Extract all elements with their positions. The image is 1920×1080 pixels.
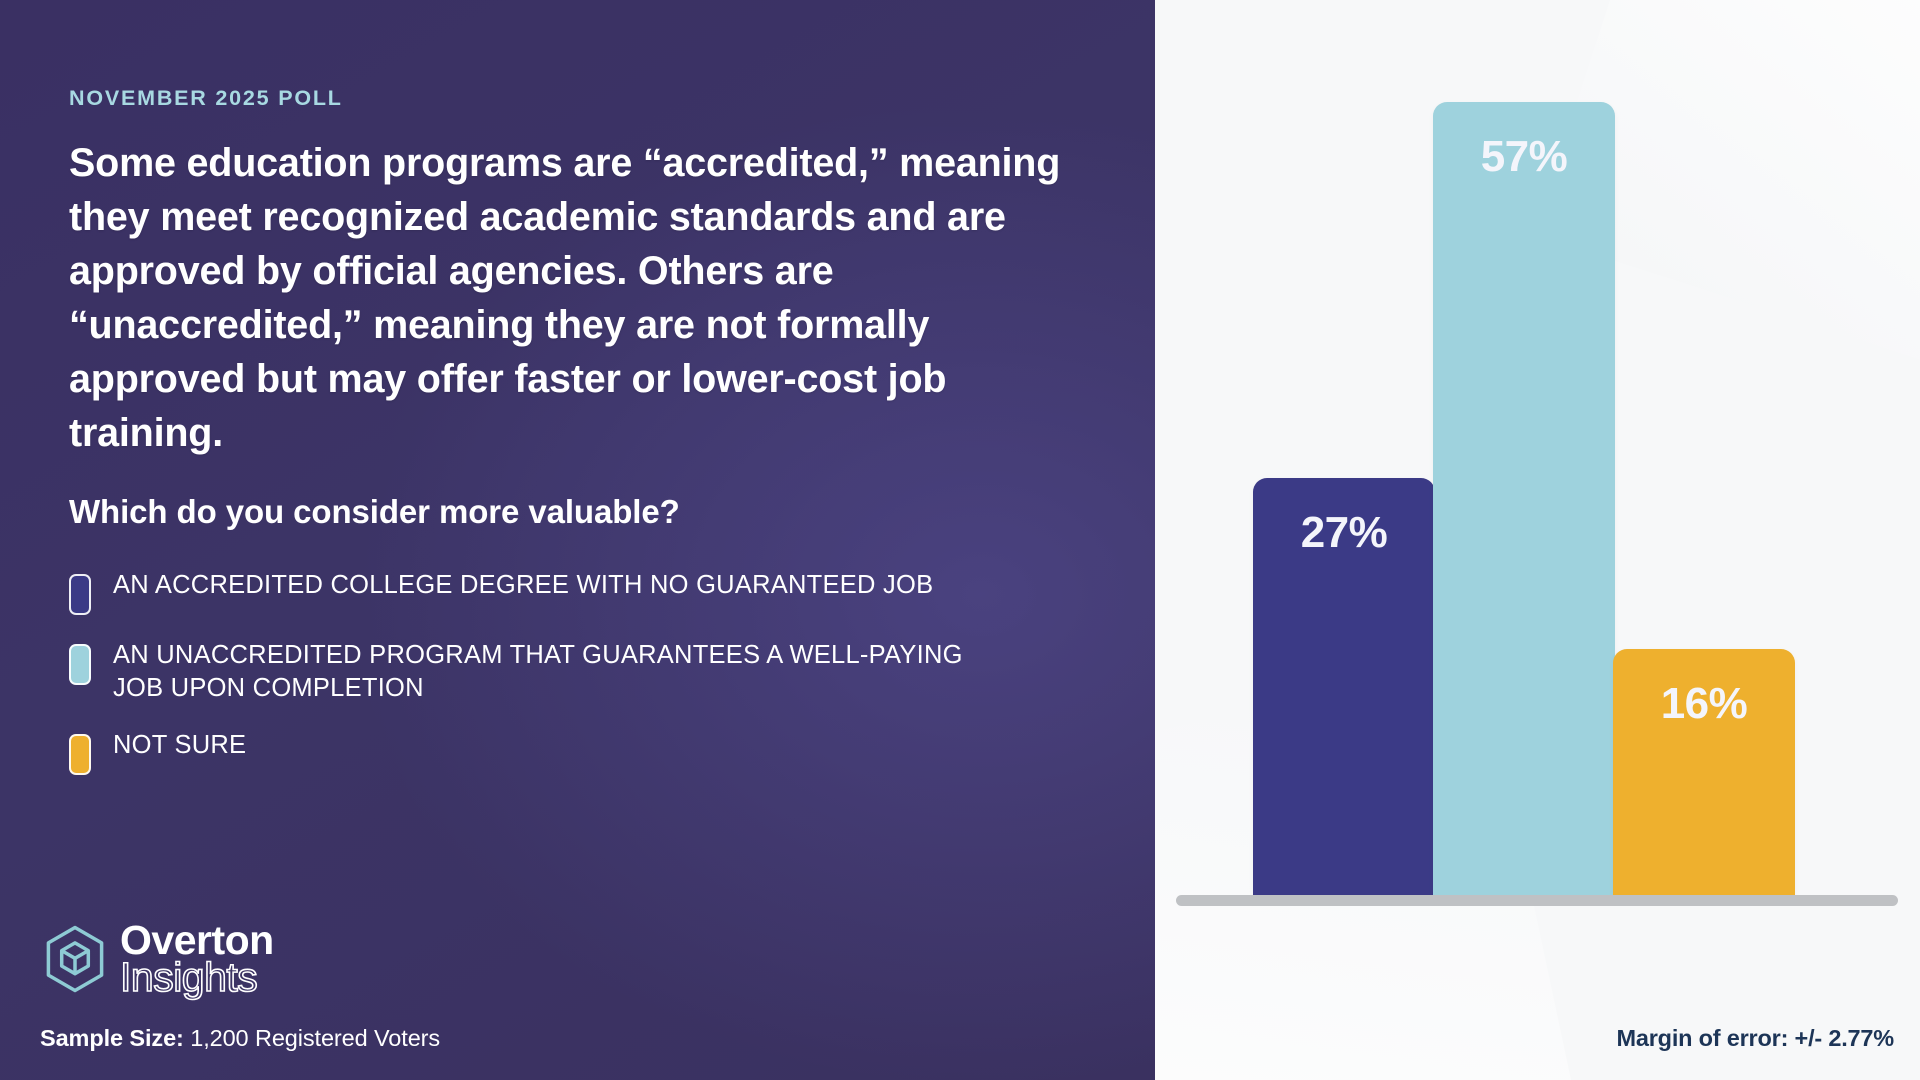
chart-baseline: [1176, 895, 1898, 906]
sample-size-label: Sample Size:: [40, 1025, 184, 1051]
legend-item-accredited-degree: AN ACCREDITED COLLEGE DEGREE WITH NO GUA…: [69, 569, 1155, 615]
left-content-panel: NOVEMBER 2025 POLL Some education progra…: [0, 0, 1155, 1080]
legend-label-unaccredited-program: AN UNACCREDITED PROGRAM THAT GUARANTEES …: [113, 639, 1013, 705]
margin-of-error-text: Margin of error: +/- 2.77%: [1616, 1025, 1894, 1052]
legend-label-not-sure: NOT SURE: [113, 729, 246, 762]
brand-wordmark: Overton Insights: [120, 920, 274, 998]
poll-subquestion-text: Which do you consider more valuable?: [69, 491, 1155, 533]
bar-value-accredited-degree: 27%: [1301, 508, 1388, 897]
brand-name-secondary: Insights: [120, 957, 274, 998]
legend: AN ACCREDITED COLLEGE DEGREE WITH NO GUA…: [69, 569, 1155, 775]
chart-panel: 27% 57% 16% Margin of error: +/- 2.77%: [1155, 0, 1920, 1080]
brand-logo: Overton Insights: [40, 920, 274, 998]
hexagon-logo-icon: [40, 924, 110, 994]
bar-chart: 27% 57% 16%: [1155, 0, 1920, 1080]
bar-unaccredited-program: 57%: [1433, 102, 1615, 897]
poll-infographic: NOVEMBER 2025 POLL Some education progra…: [0, 0, 1920, 1080]
legend-swatch-accredited-degree: [69, 574, 91, 615]
legend-swatch-not-sure: [69, 734, 91, 775]
bar-value-not-sure: 16%: [1661, 679, 1748, 897]
poll-date-eyebrow: NOVEMBER 2025 POLL: [69, 86, 1155, 111]
bar-value-unaccredited-program: 57%: [1481, 132, 1568, 897]
legend-label-accredited-degree: AN ACCREDITED COLLEGE DEGREE WITH NO GUA…: [113, 569, 933, 602]
sample-size-value: 1,200 Registered Voters: [190, 1025, 440, 1051]
sample-size-footnote: Sample Size: 1,200 Registered Voters: [40, 1025, 440, 1052]
legend-item-not-sure: NOT SURE: [69, 729, 1155, 775]
bar-accredited-degree: 27%: [1253, 478, 1435, 897]
legend-item-unaccredited-program: AN UNACCREDITED PROGRAM THAT GUARANTEES …: [69, 639, 1155, 705]
legend-swatch-unaccredited-program: [69, 644, 91, 685]
poll-question-text: Some education programs are “accredited,…: [69, 136, 1079, 460]
bar-not-sure: 16%: [1613, 649, 1795, 897]
